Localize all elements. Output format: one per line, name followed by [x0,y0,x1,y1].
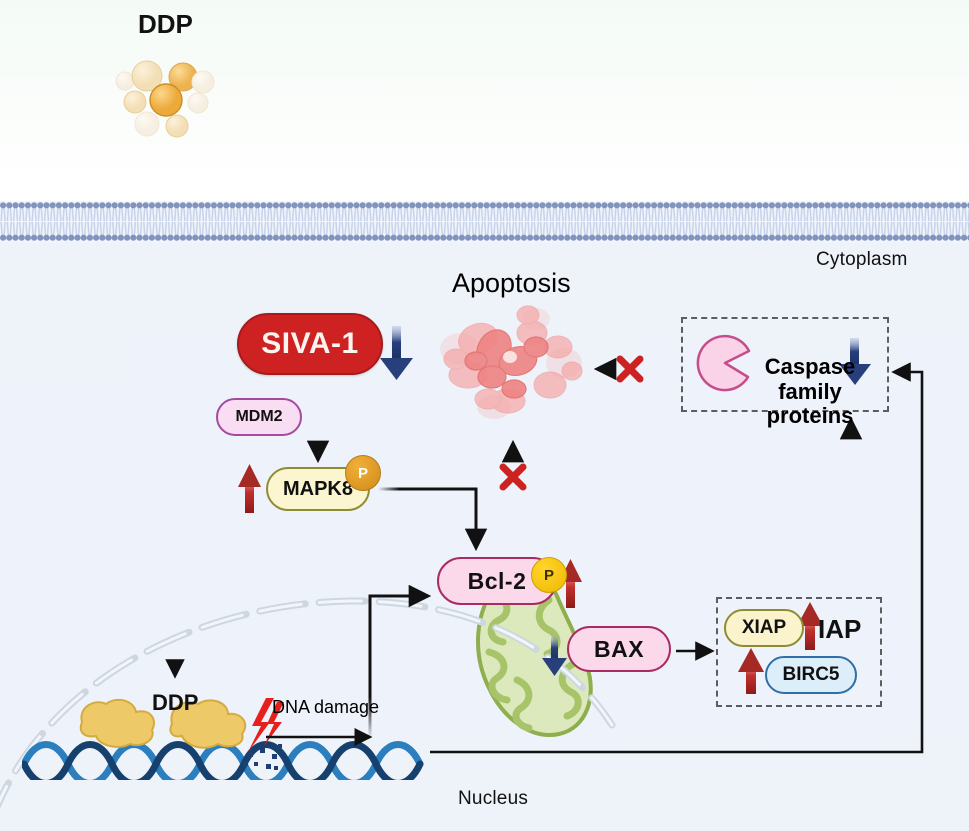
regulation-arrow-down-siva1 [380,326,413,380]
caspase-line-2: family proteins [735,380,885,429]
edge-dnadamage-to-bcl2 [370,596,428,740]
label-apoptosis: Apoptosis [452,268,571,299]
regulation-arrow-down-bax [542,636,567,676]
label-dna-damage: DNA damage [272,697,379,718]
node-xiap[interactable]: XIAP [724,609,804,647]
node-birc5[interactable]: BIRC5 [765,656,857,694]
label-nucleus: Nucleus [458,788,528,810]
label-ddp-nuclear: DDP [152,690,198,716]
phospho-badge-bcl2: P [531,557,567,593]
regulation-arrow-up-mapk8 [238,464,261,513]
caspase-line-1: Caspase [735,355,885,380]
node-mdm2[interactable]: MDM2 [216,398,302,436]
node-siva1[interactable]: SIVA-1 [237,313,383,375]
phospho-badge-mapk8: P [345,455,381,491]
label-ddp-extracellular: DDP [138,9,193,40]
label-cytoplasm: Cytoplasm [816,249,908,271]
label-caspase-family: Caspase family proteins [735,355,885,429]
edge-mapk8-to-bcl2 [378,489,476,548]
node-bax[interactable]: BAX [567,626,671,672]
label-iap-group: IAP [818,614,861,645]
pathway-diagram: SIVA-1 MDM2 MAPK8 Bcl-2 BAX XIAP BIRC5 P… [0,0,969,831]
